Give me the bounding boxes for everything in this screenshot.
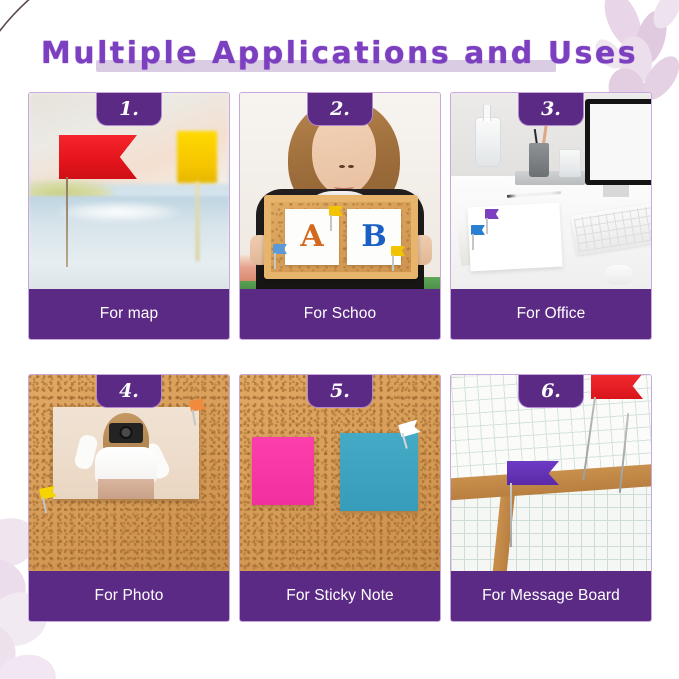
- application-card-sticky-note[interactable]: 5. For Sticky Note: [239, 374, 441, 622]
- card-number: 1.: [119, 100, 139, 119]
- card-label: For Schoo: [304, 305, 376, 323]
- keyboard-keys: [574, 206, 651, 252]
- application-card-message-board[interactable]: 6. For Message Board: [450, 374, 652, 622]
- pen-holder: [529, 143, 549, 177]
- card-footer: For Sticky Note: [240, 571, 440, 621]
- cork-board: A B: [264, 195, 418, 279]
- paper-sheet: [467, 203, 562, 272]
- water-carafe: [475, 117, 501, 167]
- card-number-badge: 4.: [96, 375, 162, 408]
- purple-flag-pin-icon: [507, 461, 563, 491]
- card-label: For map: [100, 305, 158, 323]
- carafe-neck: [483, 105, 491, 121]
- photo-person-blouse: [95, 447, 157, 483]
- card-number: 3.: [541, 100, 561, 119]
- card-footer: For Message Board: [451, 571, 651, 621]
- application-card-grid: 1. For map: [28, 92, 652, 622]
- card-label: For Photo: [95, 587, 164, 605]
- card-number: 6.: [541, 382, 561, 401]
- photo-person-skirt: [98, 479, 154, 499]
- camera-lens-icon: [120, 426, 133, 439]
- yellow-flag-pin-icon: [177, 131, 223, 187]
- application-card-photo[interactable]: 4. For Photo: [28, 374, 230, 622]
- red-flag-pin-icon: [59, 135, 137, 183]
- pink-sticky-note: [252, 437, 314, 505]
- mouse: [605, 265, 633, 285]
- pinned-photo: [53, 407, 199, 499]
- card-footer: For map: [29, 289, 229, 339]
- card-footer: For Schoo: [240, 289, 440, 339]
- card-label: For Message Board: [482, 587, 620, 605]
- card-number-badge: 5.: [307, 375, 373, 408]
- card-label: For Office: [517, 305, 586, 323]
- letter-a: A: [300, 222, 323, 252]
- card-number: 2.: [330, 100, 350, 119]
- application-card-office[interactable]: 3. For Office: [450, 92, 652, 340]
- card-number-badge: 3.: [518, 93, 584, 126]
- student-eye-left: [339, 165, 345, 168]
- application-card-map[interactable]: 1. For map: [28, 92, 230, 340]
- card-number: 5.: [330, 382, 350, 401]
- card-number: 4.: [119, 382, 139, 401]
- card-footer: For Office: [451, 289, 651, 339]
- card-footer: For Photo: [29, 571, 229, 621]
- drinking-glass: [559, 149, 581, 177]
- letter-b: B: [361, 222, 386, 252]
- map-foam: [57, 202, 181, 222]
- card-number-badge: 1.: [96, 93, 162, 126]
- card-label: For Sticky Note: [286, 587, 393, 605]
- page-root: Multiple Applications and Uses: [0, 0, 679, 679]
- card-number-badge: 2.: [307, 93, 373, 126]
- student-eye-right: [348, 165, 354, 168]
- monitor-screen: [590, 104, 651, 180]
- monitor: [585, 99, 651, 185]
- application-card-school[interactable]: A B: [239, 92, 441, 340]
- page-title: Multiple Applications and Uses: [0, 36, 679, 71]
- monitor-stand: [603, 185, 629, 197]
- page-title-wrap: Multiple Applications and Uses: [0, 36, 679, 71]
- red-flag-pin-icon: [591, 375, 645, 407]
- card-number-badge: 6.: [518, 375, 584, 408]
